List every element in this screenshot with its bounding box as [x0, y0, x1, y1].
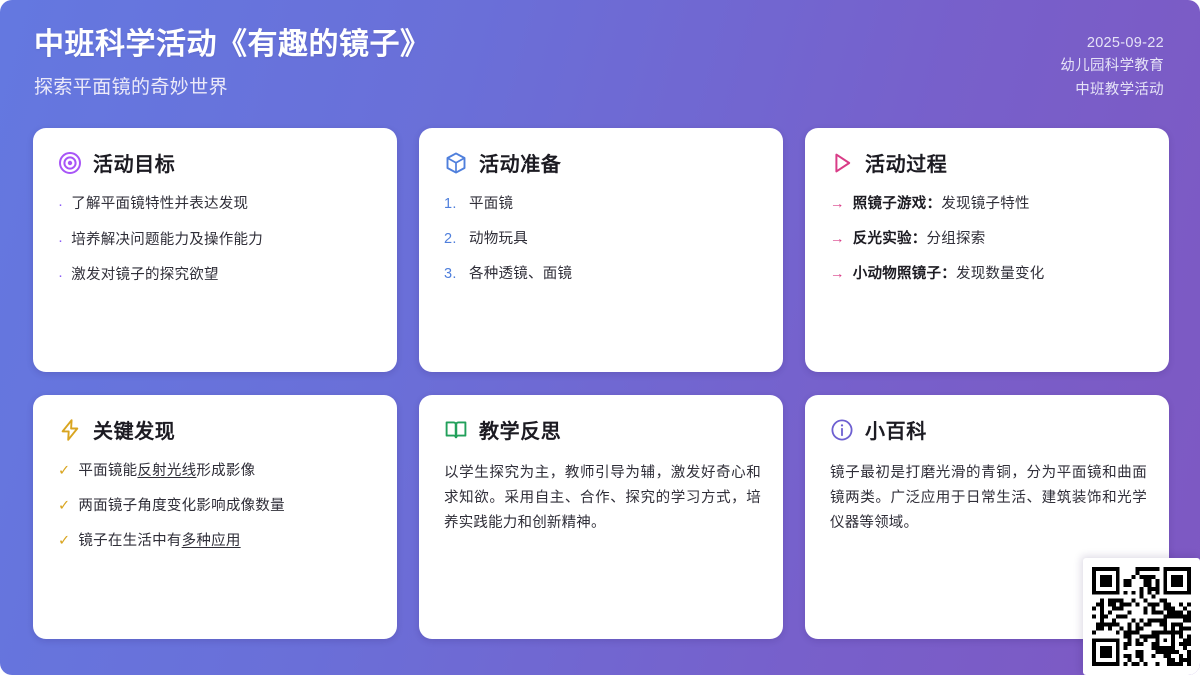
card-title: 关键发现 [93, 415, 175, 444]
list-number: 3. [444, 264, 461, 286]
preparation-list: 1. 平面镜 2. 动物玩具 3. 各种透镜、面镜 [444, 194, 761, 285]
arrow-right-icon: → [830, 229, 845, 251]
list-item: · 激发对镜子的探究欲望 [58, 265, 375, 288]
card-header: 活动准备 [444, 148, 761, 177]
list-item: → 反光实验：分组探索 [830, 229, 1147, 251]
objectives-list: · 了解平面镜特性并表达发现 · 培养解决问题能力及操作能力 · 激发对镜子的探… [58, 194, 375, 288]
header-date: 2025-09-22 [1087, 32, 1164, 55]
card-header: 关键发现 [58, 415, 375, 444]
list-item: · 了解平面镜特性并表达发现 [58, 194, 375, 217]
page-subtitle: 探索平面镜的奇妙世界 [34, 72, 431, 99]
header-title-group: 中班科学活动《有趣的镜子》 探索平面镜的奇妙世界 [34, 26, 431, 99]
header-subject: 中班教学活动 [1075, 79, 1164, 102]
bullet-dot-icon: · [58, 194, 63, 217]
list-item: → 照镜子游戏：发现镜子特性 [830, 194, 1147, 216]
check-icon: ✓ [58, 531, 70, 553]
book-icon [444, 418, 468, 442]
card-process: 活动过程 → 照镜子游戏：发现镜子特性 → 反光实验：分组探索 → 小动物照镜子… [805, 128, 1169, 372]
finding-text-pre: 两面镜子角度变化影响成像数量 [78, 498, 285, 514]
list-item-text: 反光实验：分组探索 [853, 229, 986, 251]
arrow-right-icon: → [830, 194, 845, 216]
finding-text-post: 形成影像 [196, 463, 255, 479]
header-meta-group: 2025-09-22 幼儿园科学教育 中班教学活动 [1060, 26, 1164, 102]
list-item-text: 平面镜能反射光线形成影像 [78, 461, 255, 483]
findings-list: ✓ 平面镜能反射光线形成影像 ✓ 两面镜子角度变化影响成像数量 ✓ 镜子在生活中… [58, 461, 375, 552]
step-label: 照镜子游戏： [853, 196, 942, 212]
info-icon [830, 418, 854, 442]
list-item: 2. 动物玩具 [444, 229, 761, 251]
arrow-right-icon: → [830, 264, 845, 286]
step-detail: 发现镜子特性 [941, 196, 1030, 212]
target-icon [58, 151, 82, 175]
list-item-text: 各种透镜、面镜 [469, 264, 572, 286]
card-title: 活动过程 [865, 148, 947, 177]
play-icon [830, 151, 854, 175]
card-header: 活动目标 [58, 148, 375, 177]
list-item-text: 培养解决问题能力及操作能力 [71, 230, 263, 252]
card-title: 活动准备 [479, 148, 561, 177]
list-number: 1. [444, 194, 461, 216]
step-detail: 发现数量变化 [956, 266, 1045, 282]
list-item: 1. 平面镜 [444, 194, 761, 216]
card-header: 活动过程 [830, 148, 1147, 177]
card-grid: 活动目标 · 了解平面镜特性并表达发现 · 培养解决问题能力及操作能力 · 激发… [33, 128, 1168, 639]
finding-text-highlight: 反射光线 [137, 463, 196, 479]
list-item: ✓ 平面镜能反射光线形成影像 [58, 461, 375, 483]
card-header: 小百科 [830, 415, 1147, 444]
finding-text-pre: 镜子在生活中有 [78, 533, 181, 549]
list-item-text: 镜子在生活中有多种应用 [78, 531, 240, 553]
card-title: 小百科 [865, 415, 927, 444]
encyclopedia-body: 镜子最初是打磨光滑的青铜，分为平面镜和曲面镜两类。广泛应用于日常生活、建筑装饰和… [830, 461, 1147, 536]
step-detail: 分组探索 [927, 231, 986, 247]
bullet-dot-icon: · [58, 230, 63, 253]
card-key-findings: 关键发现 ✓ 平面镜能反射光线形成影像 ✓ 两面镜子角度变化影响成像数量 ✓ 镜… [33, 395, 397, 639]
list-item-text: 了解平面镜特性并表达发现 [71, 194, 248, 216]
header-category: 幼儿园科学教育 [1060, 55, 1164, 78]
list-item-text: 两面镜子角度变化影响成像数量 [78, 496, 285, 518]
step-label: 反光实验： [853, 231, 927, 247]
list-item: 3. 各种透镜、面镜 [444, 264, 761, 286]
box-icon [444, 151, 468, 175]
check-icon: ✓ [58, 461, 70, 483]
page-title: 中班科学活动《有趣的镜子》 [34, 26, 431, 64]
finding-text-pre: 平面镜能 [78, 463, 137, 479]
slide-canvas: 中班科学活动《有趣的镜子》 探索平面镜的奇妙世界 2025-09-22 幼儿园科… [0, 0, 1200, 675]
list-item-text: 照镜子游戏：发现镜子特性 [853, 194, 1030, 216]
check-icon: ✓ [58, 496, 70, 518]
reflection-body: 以学生探究为主，教师引导为辅，激发好奇心和求知欲。采用自主、合作、探究的学习方式… [444, 461, 761, 536]
list-item: → 小动物照镜子：发现数量变化 [830, 264, 1147, 286]
qr-code-block[interactable] [1083, 558, 1200, 675]
list-item: · 培养解决问题能力及操作能力 [58, 230, 375, 253]
card-objectives: 活动目标 · 了解平面镜特性并表达发现 · 培养解决问题能力及操作能力 · 激发… [33, 128, 397, 372]
process-list: → 照镜子游戏：发现镜子特性 → 反光实验：分组探索 → 小动物照镜子：发现数量… [830, 194, 1147, 285]
card-title: 教学反思 [479, 415, 561, 444]
lightning-icon [58, 418, 82, 442]
card-preparation: 活动准备 1. 平面镜 2. 动物玩具 3. 各种透镜、面镜 [419, 128, 783, 372]
card-header: 教学反思 [444, 415, 761, 444]
finding-text-highlight: 多种应用 [182, 533, 241, 549]
card-teaching-reflection: 教学反思 以学生探究为主，教师引导为辅，激发好奇心和求知欲。采用自主、合作、探究… [419, 395, 783, 639]
list-item-text: 动物玩具 [469, 229, 528, 251]
qr-code[interactable] [1092, 567, 1191, 666]
list-item-text: 小动物照镜子：发现数量变化 [853, 264, 1045, 286]
list-item: ✓ 镜子在生活中有多种应用 [58, 531, 375, 553]
list-number: 2. [444, 229, 461, 251]
list-item: ✓ 两面镜子角度变化影响成像数量 [58, 496, 375, 518]
slide-header: 中班科学活动《有趣的镜子》 探索平面镜的奇妙世界 2025-09-22 幼儿园科… [0, 0, 1200, 118]
bullet-dot-icon: · [58, 265, 63, 288]
step-label: 小动物照镜子： [853, 266, 956, 282]
list-item-text: 激发对镜子的探究欲望 [71, 265, 219, 287]
list-item-text: 平面镜 [469, 194, 513, 216]
card-title: 活动目标 [93, 148, 175, 177]
